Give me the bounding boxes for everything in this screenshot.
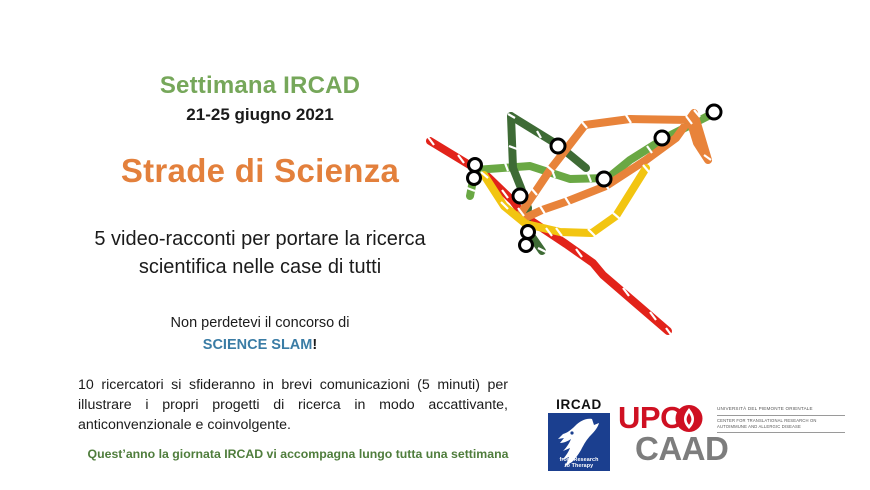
ircad-wordmark: IRCAD (548, 398, 610, 412)
contest-name: SCIENCE SLAM (203, 337, 313, 353)
upo-description-line-2: CENTER FOR TRANSLATIONAL RESEARCH ON AUT… (717, 416, 845, 433)
poster-canvas: Settimana IRCAD 21-25 giugno 2021 Strade… (0, 0, 870, 490)
upo-caad-logo: UPO UNIVERSITÀ DEL PIEMONTE ORIENTALE CE… (618, 402, 858, 476)
metro-map-graphic (418, 48, 758, 348)
ircad-emblem: from Research to Therapy (548, 413, 610, 471)
orange-line (519, 113, 708, 218)
contest-exclamation: ! (312, 337, 317, 353)
ircad-tagline-line-1: from Research (559, 457, 598, 463)
interchange-station (551, 139, 565, 153)
interchange-station (655, 131, 669, 145)
interchange-station (469, 159, 482, 172)
caad-wordmark: CAAD (635, 432, 728, 466)
interchange-station (522, 226, 535, 239)
ircad-logo: IRCAD from Research to Therapy (548, 398, 610, 471)
interchange-station (597, 172, 611, 186)
interchange-station (513, 189, 527, 203)
tagline-line-1: 5 video-racconti per portare la ricerca (94, 228, 425, 250)
upo-description: UNIVERSITÀ DEL PIEMONTE ORIENTALE CENTER… (717, 406, 857, 433)
upo-flame-icon (675, 404, 703, 433)
ircad-tagline: from Research to Therapy (548, 457, 610, 469)
interchange-station (468, 172, 481, 185)
upo-description-line-1: UNIVERSITÀ DEL PIEMONTE ORIENTALE (717, 406, 845, 416)
tagline-line-2: scientifica nelle case di tutti (139, 256, 381, 278)
ircad-tagline-line-2: to Therapy (565, 463, 594, 469)
interchange-station (520, 239, 533, 252)
logo-bar: IRCAD from Research to Therapy UPO (548, 398, 858, 478)
footer-note: Quest’anno la giornata IRCAD vi accompag… (78, 447, 518, 461)
interchange-station (707, 105, 721, 119)
body-paragraph: 10 ricercatori si sfideranno in brevi co… (78, 375, 508, 435)
